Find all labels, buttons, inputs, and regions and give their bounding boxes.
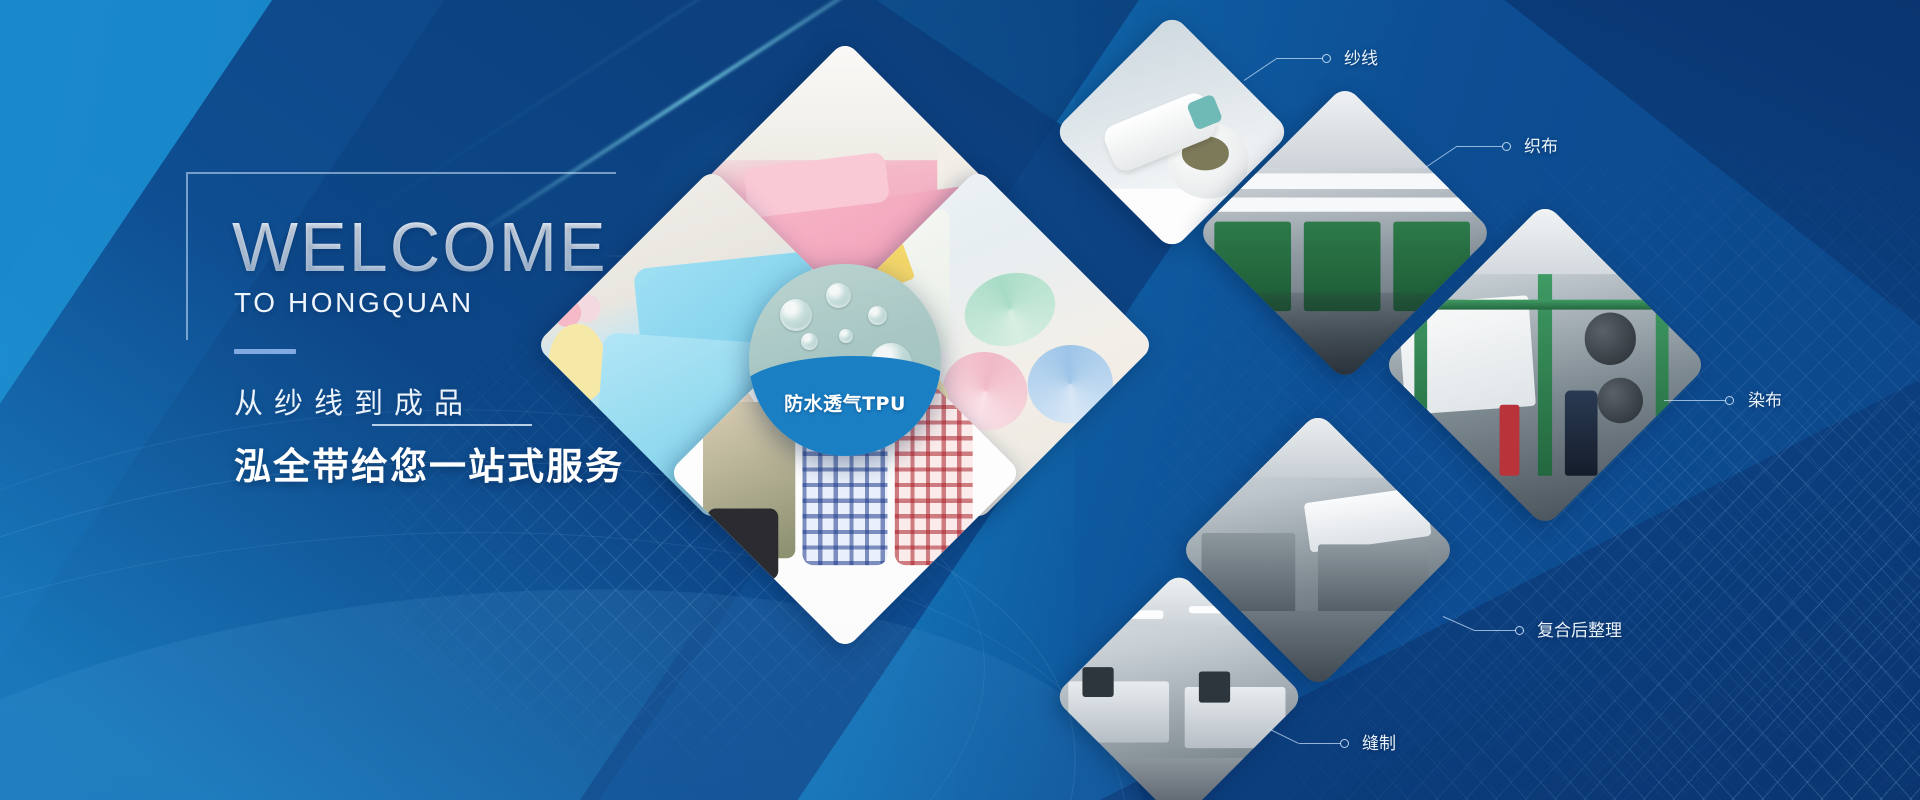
hero-banner: WELCOME TO HONGQUAN 从纱线到成品 泓全带给您一站式服务 — [0, 0, 1920, 800]
center-badge[interactable]: 防水透气TPU — [749, 264, 941, 456]
badge-label: 防水透气TPU — [749, 389, 941, 416]
product-diamond-cluster: 防水透气TPU — [595, 110, 1095, 610]
accent-rule — [234, 349, 296, 354]
bottom-accent-rule — [372, 424, 532, 426]
